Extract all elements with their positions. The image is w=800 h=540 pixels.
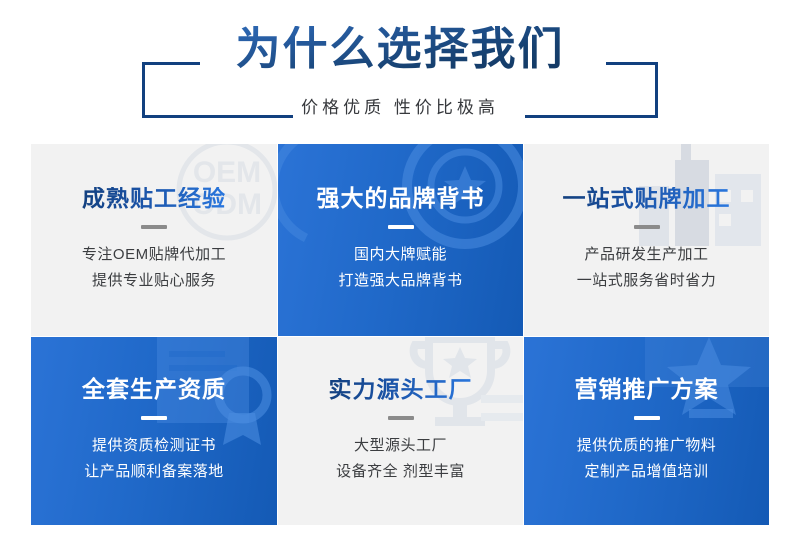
feature-line: 设备齐全 剂型丰富 (336, 459, 465, 485)
feature-title: 全套生产资质 (82, 378, 226, 401)
title-divider (634, 416, 660, 420)
feature-line: 让产品顺利备案落地 (84, 459, 224, 485)
feature-line: 国内大牌赋能 (354, 242, 447, 268)
feature-cell-one-stop-oem: 一站式贴牌加工 产品研发生产加工 一站式服务省时省力 (523, 144, 769, 336)
title-divider (388, 416, 414, 420)
feature-line: 产品研发生产加工 (584, 242, 708, 268)
feature-line: 大型源头工厂 (354, 433, 447, 459)
feature-grid: OEM ODM 成熟贴工经验 专注OEM贴牌代加工 提供专业贴心服务 强大的品牌… (31, 144, 769, 525)
feature-cell-source-factory: 实力源头工厂 大型源头工厂 设备齐全 剂型丰富 (277, 336, 523, 525)
title-divider (634, 225, 660, 229)
feature-cell-mature-experience: OEM ODM 成熟贴工经验 专注OEM贴牌代加工 提供专业贴心服务 (31, 144, 277, 336)
feature-cell-marketing-plan: 营销推广方案 提供优质的推广物料 定制产品增值培训 (523, 336, 769, 525)
feature-line: 提供资质检测证书 (92, 433, 216, 459)
feature-line: 提供专业贴心服务 (92, 268, 216, 294)
corner-arc-icon (277, 144, 318, 244)
feature-title: 强大的品牌背书 (317, 187, 485, 210)
feature-cell-brand-endorsement: 强大的品牌背书 国内大牌赋能 打造强大品牌背书 (277, 144, 523, 336)
page-subtitle: 价格优质 性价比极高 (0, 93, 800, 118)
page-title: 为什么选择我们 (0, 26, 800, 71)
header-section: 为什么选择我们 价格优质 性价比极高 (0, 0, 800, 144)
feature-line: 打造强大品牌背书 (338, 268, 462, 294)
feature-line: 专注OEM贴牌代加工 (82, 242, 226, 268)
title-divider (141, 225, 167, 229)
title-divider (141, 416, 167, 420)
feature-title: 一站式贴牌加工 (563, 187, 731, 210)
feature-title: 营销推广方案 (575, 378, 719, 401)
feature-cell-production-qualification: 全套生产资质 提供资质检测证书 让产品顺利备案落地 (31, 336, 277, 525)
feature-line: 定制产品增值培训 (584, 459, 708, 485)
title-divider (388, 225, 414, 229)
feature-line: 提供优质的推广物料 (577, 433, 717, 459)
feature-title: 实力源头工厂 (329, 378, 473, 401)
promo-banner: 为什么选择我们 价格优质 性价比极高 OEM ODM 成熟贴工经验 专注OEM贴… (0, 0, 800, 540)
feature-title: 成熟贴工经验 (82, 187, 226, 210)
feature-line: 一站式服务省时省力 (577, 268, 717, 294)
